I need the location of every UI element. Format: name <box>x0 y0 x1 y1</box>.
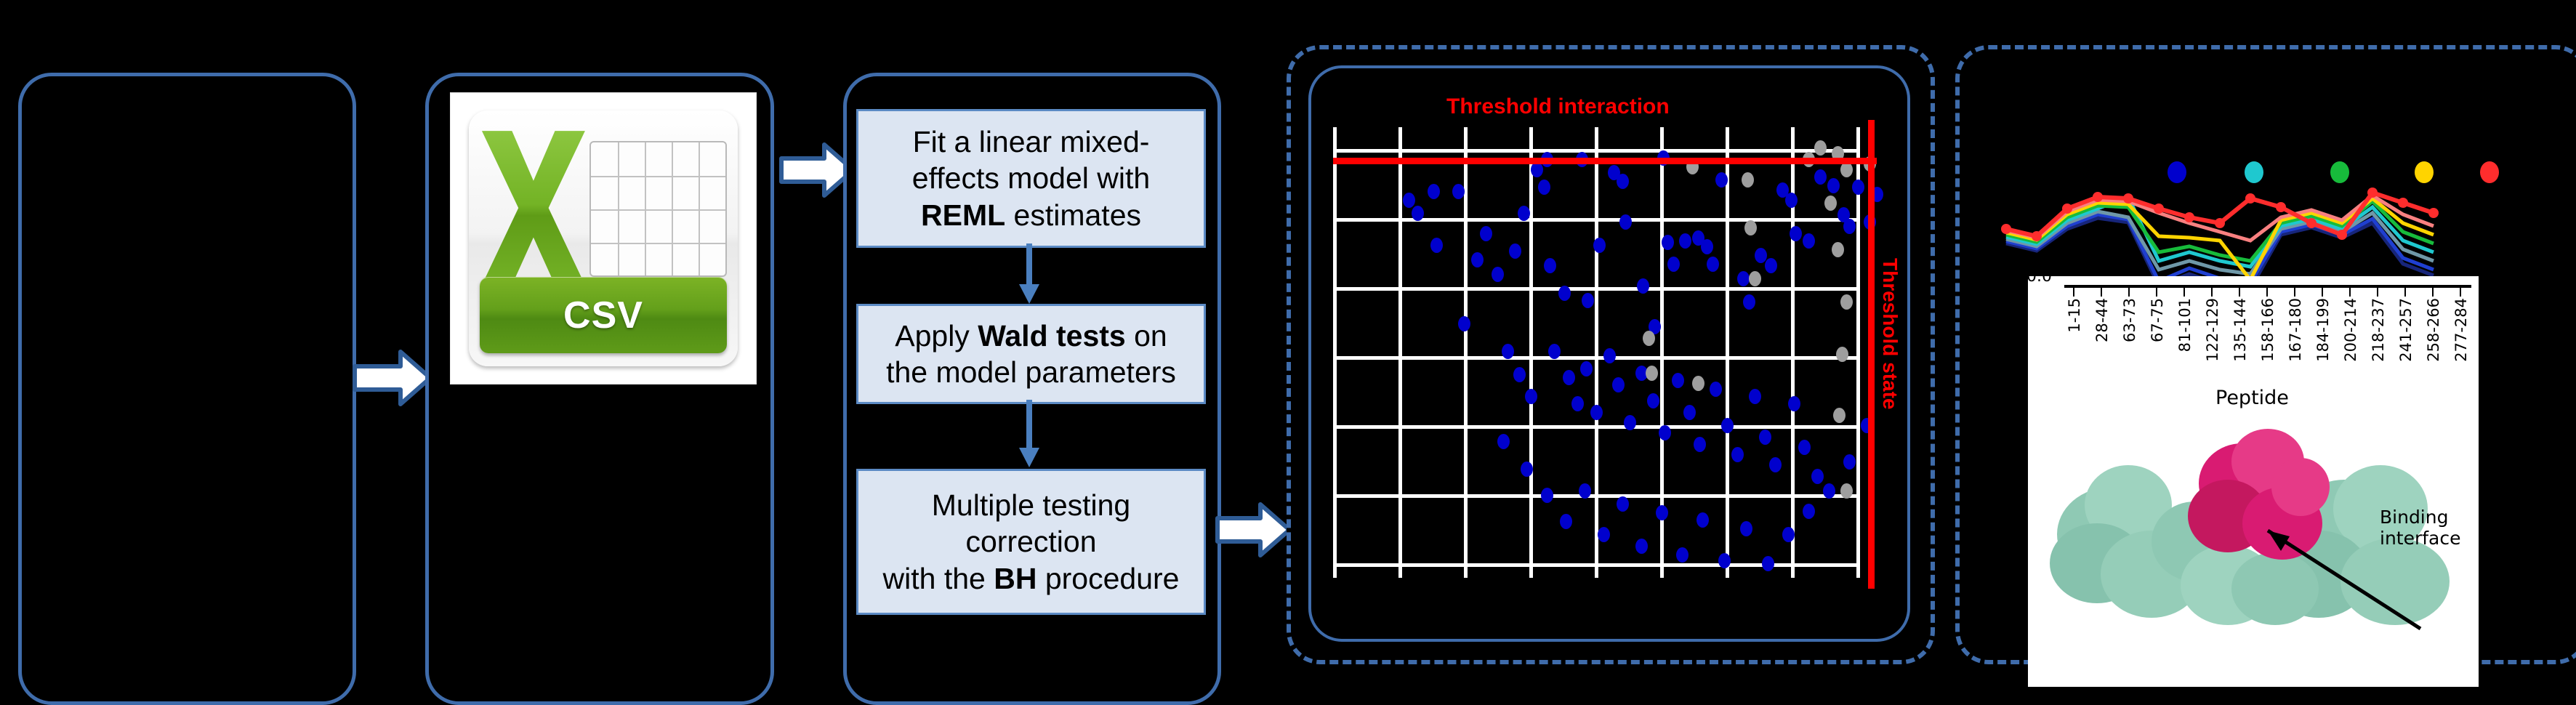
scatter-point <box>1518 206 1530 221</box>
mt-line-1: Multiple testing <box>932 488 1130 522</box>
fit-model-reml: REML <box>921 198 1005 232</box>
scatter-point <box>1637 278 1649 294</box>
grid-hline <box>1333 218 1860 222</box>
scatter-point <box>1696 512 1709 528</box>
scatter-point <box>1667 257 1680 272</box>
scatter-point <box>1823 483 1835 499</box>
x-axis-tick <box>2377 288 2378 297</box>
scatter-point-ns <box>1814 140 1827 156</box>
x-axis-tick <box>2128 288 2130 297</box>
volcano-scatter-plot: Threshold interaction <box>1323 76 1897 629</box>
grid-vline <box>1398 127 1402 578</box>
scatter-point <box>1624 415 1636 430</box>
csv-label-text: CSV <box>563 294 643 337</box>
scatter-point <box>1403 193 1415 208</box>
peptide-tick-label: 200-214 <box>2342 298 2359 362</box>
scatter-point <box>1811 469 1824 484</box>
threshold-interaction-line <box>1333 158 1877 164</box>
peptide-tick-label: 258-266 <box>2425 298 2442 362</box>
peptide-tick-label: 81-101 <box>2176 298 2194 352</box>
scatter-point <box>1759 430 1771 445</box>
grid-vline <box>1464 127 1468 578</box>
scatter-point <box>1721 418 1734 433</box>
legend-dot-series-yellow <box>2415 161 2434 183</box>
multiple-testing-box[interactable]: Multiple testing correction with the BH … <box>856 469 1206 615</box>
peptide-tick-label: 158-166 <box>2259 298 2277 362</box>
scatter-point <box>1579 483 1591 499</box>
scatter-point <box>1743 294 1755 310</box>
fit-model-estimates: estimates <box>1005 198 1141 232</box>
scatter-point <box>1679 233 1691 249</box>
grid-hline <box>1333 287 1860 291</box>
scatter-point <box>1852 180 1864 195</box>
scatter-point <box>1430 238 1443 253</box>
scatter-point <box>1740 521 1752 536</box>
mt-suffix: procedure <box>1037 562 1179 595</box>
scatter-point-ns <box>1824 196 1837 211</box>
x-axis-tick <box>2460 288 2461 297</box>
scatter-point <box>1683 405 1696 420</box>
scatter-point <box>1502 344 1514 359</box>
scatter-point <box>1617 174 1629 189</box>
scatter-point <box>1843 454 1856 470</box>
scatter-point <box>1617 496 1629 512</box>
x-axis-tick <box>2266 288 2268 297</box>
scatter-point-ns <box>1692 376 1704 391</box>
csv-label-band: CSV <box>480 277 727 354</box>
legend-dot-series-blue <box>2168 161 2186 183</box>
scatter-point <box>1710 382 1722 397</box>
scatter-point <box>1458 316 1470 331</box>
scatter-point <box>1471 252 1484 267</box>
scatter-point <box>1647 393 1659 408</box>
scatter-point <box>1803 504 1815 519</box>
fit-model-text: Fit a linear mixed- effects model with R… <box>905 124 1157 233</box>
multiple-testing-text: Multiple testing correction with the BH … <box>876 487 1187 596</box>
peptide-tick-label: 167-180 <box>2287 298 2304 362</box>
legend-dot-series-red <box>2480 161 2499 183</box>
scatter-point <box>1782 527 1795 542</box>
csv-icon-body: CSV <box>469 110 738 366</box>
x-axis-tick <box>2073 288 2074 297</box>
x-axis-tick <box>2432 288 2434 297</box>
threshold-interaction-label: Threshold interaction <box>1446 94 1670 119</box>
scatter-point <box>1582 293 1594 308</box>
scatter-point <box>1598 527 1610 542</box>
scatter-point <box>1619 214 1632 230</box>
peptide-tick-label: 218-237 <box>2370 298 2387 362</box>
scatter-point <box>1590 405 1603 420</box>
wald-tests-box[interactable]: Apply Wald tests on the model parameters <box>856 304 1206 404</box>
scatter-point <box>1571 396 1584 411</box>
grid-hline <box>1333 494 1860 498</box>
grid-hline <box>1333 425 1860 429</box>
scatter-point-ns <box>1744 220 1757 235</box>
scatter-point <box>1412 206 1424 221</box>
scatter-point <box>1525 389 1537 404</box>
scatter-point <box>1843 219 1856 234</box>
scatter-point <box>1513 367 1526 382</box>
scatter-point <box>1548 344 1561 359</box>
scatter-point <box>1452 184 1465 199</box>
binding-interface-line-2: interface <box>2380 528 2461 549</box>
scatter-point <box>1707 257 1719 272</box>
arrow-stage1-to-stage2 <box>353 349 432 407</box>
fit-model-box[interactable]: Fit a linear mixed- effects model with R… <box>856 109 1206 248</box>
grid-hline <box>1333 149 1860 153</box>
scatter-point <box>1656 505 1668 520</box>
legend-dot-series-green <box>2330 161 2349 183</box>
binding-interface-annotation: Binding interface <box>2380 507 2461 549</box>
scatter-point <box>1803 233 1815 249</box>
scatter-point <box>1531 162 1543 177</box>
scatter-point <box>1593 238 1606 253</box>
wald-bold: Wald tests <box>978 319 1126 352</box>
stage-1-container <box>18 73 356 705</box>
grid-vline <box>1529 127 1533 578</box>
scatter-point <box>1509 243 1521 259</box>
x-axis-tick <box>2349 288 2351 297</box>
scatter-point <box>1492 267 1504 282</box>
scatter-point <box>1718 553 1731 568</box>
grid-vline <box>1856 127 1860 578</box>
scatter-point <box>1563 370 1575 385</box>
grid-hline <box>1333 563 1860 567</box>
grid-vline <box>1333 127 1337 578</box>
csv-file-icon: CSV <box>451 93 756 384</box>
fit-model-line-1: Fit a linear mixed- <box>913 125 1150 158</box>
csv-x-letter <box>480 129 587 287</box>
binding-interface-line-1: Binding <box>2380 507 2448 528</box>
x-axis-tick <box>2404 288 2406 297</box>
peptide-profile-chart <box>1992 127 2566 294</box>
wald-tests-text: Apply Wald tests on the model parameters <box>879 318 1183 390</box>
threshold-state-line <box>1868 120 1875 589</box>
scatter-point <box>1769 457 1782 472</box>
fit-model-line-2: effects model with <box>912 161 1150 195</box>
wald-suffix: on <box>1126 319 1167 352</box>
scatter-point-ns <box>1749 271 1761 286</box>
peptide-structure-panel: 0.0 1-15 28-44 63-73 67-75 81-101 122-12… <box>2028 276 2479 687</box>
x-axis-line <box>2064 285 2471 288</box>
mt-prefix: with the <box>883 562 994 595</box>
scatter-point <box>1814 169 1827 185</box>
scatter-point-ns <box>1643 331 1655 346</box>
csv-spreadsheet-grid <box>589 141 727 277</box>
x-axis-tick <box>2294 288 2295 297</box>
connector-wald-to-bh <box>1018 400 1041 469</box>
mt-bh: BH <box>994 562 1037 595</box>
mt-line-2: correction <box>965 525 1096 558</box>
x-axis-tick <box>2101 288 2102 297</box>
arrow-stage3-to-stage4 <box>1215 501 1292 558</box>
peptide-tick-label: 28-44 <box>2093 298 2111 342</box>
x-axis-tick <box>2211 288 2213 297</box>
peptide-tick-label: 241-257 <box>2397 298 2415 362</box>
peptide-tick-label: 122-129 <box>2204 298 2221 362</box>
scatter-point <box>1541 488 1553 503</box>
scatter-point <box>1785 193 1798 208</box>
x-axis-title: Peptide <box>2215 387 2289 409</box>
y-axis-tick-label: 0.0 <box>2028 276 2052 286</box>
scatter-point <box>1731 447 1744 462</box>
scatter-point <box>1798 440 1811 455</box>
x-axis-tick <box>2183 288 2185 297</box>
grid-vline <box>1595 127 1598 578</box>
peptide-tick-label: 1-15 <box>2066 298 2083 333</box>
x-axis-tick <box>2156 288 2157 297</box>
profile-series-group <box>2001 188 2439 289</box>
scatter-point <box>1560 514 1572 529</box>
scatter-point <box>1662 235 1674 250</box>
grid-vline <box>1726 127 1729 578</box>
scatter-point <box>1480 226 1492 241</box>
scatter-point-ns <box>1646 366 1658 381</box>
scatter-point <box>1676 547 1689 563</box>
peptide-tick-label: 277-284 <box>2452 298 2470 362</box>
scatter-point <box>1672 373 1684 388</box>
scatter-point-ns <box>1832 242 1844 257</box>
scatter-point <box>1580 361 1593 376</box>
x-axis-tick <box>2322 288 2323 297</box>
scatter-point-ns <box>1840 294 1853 310</box>
scatter-point <box>1790 226 1802 241</box>
scatter-point-ns <box>1836 347 1848 362</box>
legend-dot-series-cyan <box>2245 161 2263 183</box>
scatter-point <box>1762 556 1774 571</box>
scatter-point <box>1715 172 1728 188</box>
workflow-diagram: CSV Fit a linear mixed- effects model wi… <box>0 0 2576 687</box>
scatter-point <box>1701 239 1713 254</box>
scatter-point <box>1538 180 1550 195</box>
scatter-point <box>1737 271 1750 286</box>
scatter-point <box>1694 437 1706 452</box>
scatter-point <box>1612 377 1625 392</box>
scatter-point-ns <box>1840 162 1853 177</box>
scatter-point <box>1749 389 1761 404</box>
peptide-tick-label: 135-144 <box>2231 298 2249 362</box>
scatter-point-ns <box>1742 172 1754 188</box>
scatter-point <box>1497 434 1510 449</box>
peptide-tick-label: 184-199 <box>2314 298 2332 362</box>
wald-prefix: Apply <box>895 319 978 352</box>
grid-hline <box>1333 356 1860 360</box>
scatter-point <box>1428 184 1440 199</box>
scatter-point <box>1558 286 1571 301</box>
scatter-point <box>1521 462 1533 477</box>
scatter-point <box>1827 178 1840 193</box>
scatter-point-ns <box>1833 408 1846 423</box>
x-axis-tick <box>2239 288 2240 297</box>
scatter-point-ns <box>1840 483 1853 499</box>
scatter-point <box>1788 396 1800 411</box>
scatter-point <box>1603 348 1616 363</box>
scatter-point <box>1659 425 1671 440</box>
wald-line-2: the model parameters <box>886 355 1176 389</box>
scatter-point <box>1635 539 1648 554</box>
peptide-tick-label: 67-75 <box>2149 298 2166 342</box>
threshold-state-label: Threshold state <box>1878 258 1901 409</box>
connector-fit-to-wald <box>1018 243 1041 305</box>
binding-interface-region <box>2271 458 2330 516</box>
scatter-point <box>1544 258 1556 273</box>
scatter-point <box>1765 258 1777 273</box>
peptide-tick-label: 63-73 <box>2121 298 2138 342</box>
